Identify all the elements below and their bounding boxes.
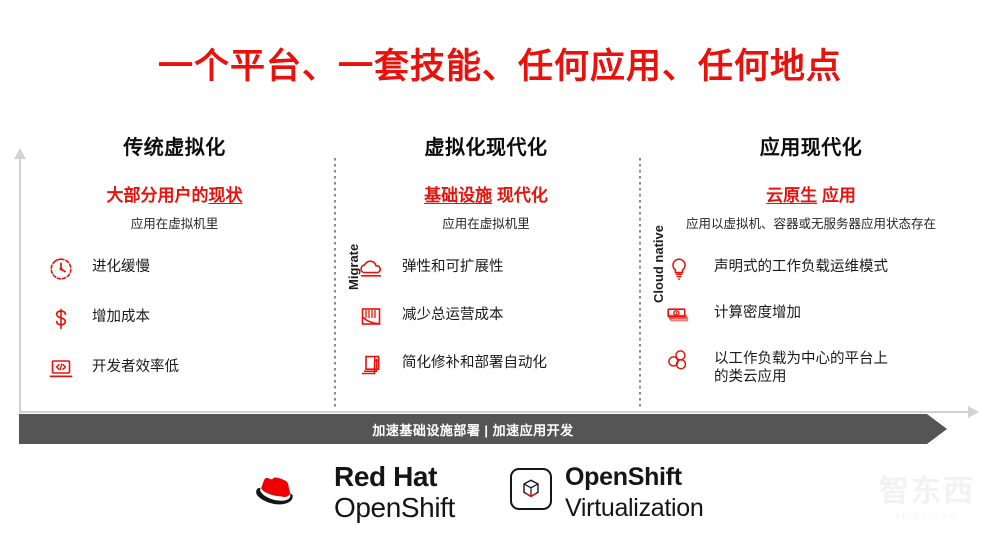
bottom-banner-arrow-icon	[927, 414, 947, 444]
list-item: 以工作负载为中心的平台上的类云应用	[662, 346, 976, 386]
column-subtitle-tail: 现代化	[492, 186, 548, 205]
watermark-main: 智东西	[879, 477, 975, 507]
list-item: 减少总运营成本	[354, 302, 632, 332]
red-hat-line1: Red Hat	[334, 463, 455, 491]
horizontal-axis-arrowhead-icon	[968, 406, 979, 418]
column-traditional-virtualization: 传统虚拟化 大部分用户的现状 应用在虚拟机里 进化缓慢	[22, 131, 327, 404]
column-application-modernization: 应用现代化 云原生 应用 应用以虚拟机、容器或无服务器应用状态存在 声明式的工作…	[646, 131, 976, 402]
declining-chart-icon	[354, 302, 388, 332]
column-description: 应用在虚拟机里	[340, 213, 632, 232]
stacked-layers-icon	[354, 350, 388, 380]
list-item-label: 开发者效率低	[78, 354, 179, 376]
column-subtitle-lead: 云原生	[766, 186, 817, 205]
openshift-wordmark: OpenShift Virtualization	[565, 465, 703, 521]
column-subtitle-tail: 应用	[817, 186, 856, 205]
column-subtitle-tail: 现状	[209, 186, 243, 205]
column-description: 应用以虚拟机、容器或无服务器应用状态存在	[646, 213, 976, 232]
list-item: 进化缓慢	[44, 254, 327, 284]
list-item-label: 简化修补和部署自动化	[388, 350, 547, 372]
openshift-line1: OpenShift	[565, 465, 703, 490]
column-subtitle-lead: 大部分用户的	[107, 186, 209, 205]
column-subtitle: 大部分用户的现状	[22, 181, 327, 206]
dollar-icon	[44, 304, 78, 334]
red-hat-line2: OpenShift	[334, 494, 455, 522]
list-item-label: 计算密度增加	[696, 300, 801, 322]
slide-root: 一个平台、一套技能、任何应用、任何地点 Migrate Cloud native…	[0, 0, 1000, 542]
overlapping-circles-icon	[662, 346, 696, 376]
separator-migrate	[334, 158, 336, 408]
list-item: 弹性和可扩展性	[354, 254, 632, 284]
red-hat-wordmark: Red Hat OpenShift	[334, 463, 455, 522]
code-laptop-icon	[44, 354, 78, 384]
lightbulb-icon	[662, 254, 696, 284]
list-item-label: 进化缓慢	[78, 254, 150, 276]
page-title: 一个平台、一套技能、任何应用、任何地点	[0, 38, 1000, 89]
column-item-list: 声明式的工作负载运维模式 计算密度增加	[662, 254, 976, 386]
list-item: 增加成本	[44, 304, 327, 334]
column-virtualization-modernization: 虚拟化现代化 基础设施 现代化 应用在虚拟机里 弹性和可扩展性	[340, 131, 632, 398]
list-item-label: 减少总运营成本	[388, 302, 504, 324]
list-item-label: 增加成本	[78, 304, 150, 326]
openshift-cube-icon	[510, 468, 552, 510]
column-heading: 应用现代化	[646, 131, 976, 160]
column-subtitle: 云原生 应用	[646, 181, 976, 206]
column-description: 应用在虚拟机里	[22, 213, 327, 232]
list-item-label: 弹性和可扩展性	[388, 254, 504, 276]
list-item: 开发者效率低	[44, 354, 327, 384]
list-item-label: 以工作负载为中心的平台上的类云应用	[696, 346, 888, 386]
cash-stack-icon	[662, 300, 696, 330]
openshift-line2: Virtualization	[565, 496, 703, 521]
list-item-label: 声明式的工作负载运维模式	[696, 254, 888, 276]
list-item: 简化修补和部署自动化	[354, 350, 632, 380]
separator-cloud-native	[639, 158, 641, 408]
vertical-axis-line	[19, 158, 21, 413]
bottom-banner-label: 加速基础设施部署 | 加速应用开发	[19, 414, 927, 444]
list-item: 计算密度增加	[662, 300, 976, 330]
clock-icon	[44, 254, 78, 284]
column-subtitle-lead: 基础设施	[424, 186, 492, 205]
red-hat-openshift-logo: Red Hat OpenShift	[255, 463, 455, 522]
watermark-sub: zhidx.com	[895, 512, 958, 521]
list-item: 声明式的工作负载运维模式	[662, 254, 976, 284]
column-heading: 虚拟化现代化	[340, 131, 632, 160]
column-item-list: 弹性和可扩展性 减少总运营成本	[354, 254, 632, 380]
openshift-virtualization-logo: OpenShift Virtualization	[510, 465, 703, 521]
column-heading: 传统虚拟化	[22, 131, 327, 160]
column-subtitle: 基础设施 现代化	[340, 181, 632, 206]
column-item-list: 进化缓慢 增加成本	[44, 254, 327, 384]
red-hat-fedora-icon	[255, 466, 323, 519]
cloud-icon	[354, 254, 388, 284]
watermark: 智东西 zhidx.com	[866, 462, 988, 536]
horizontal-axis-line	[19, 411, 971, 413]
